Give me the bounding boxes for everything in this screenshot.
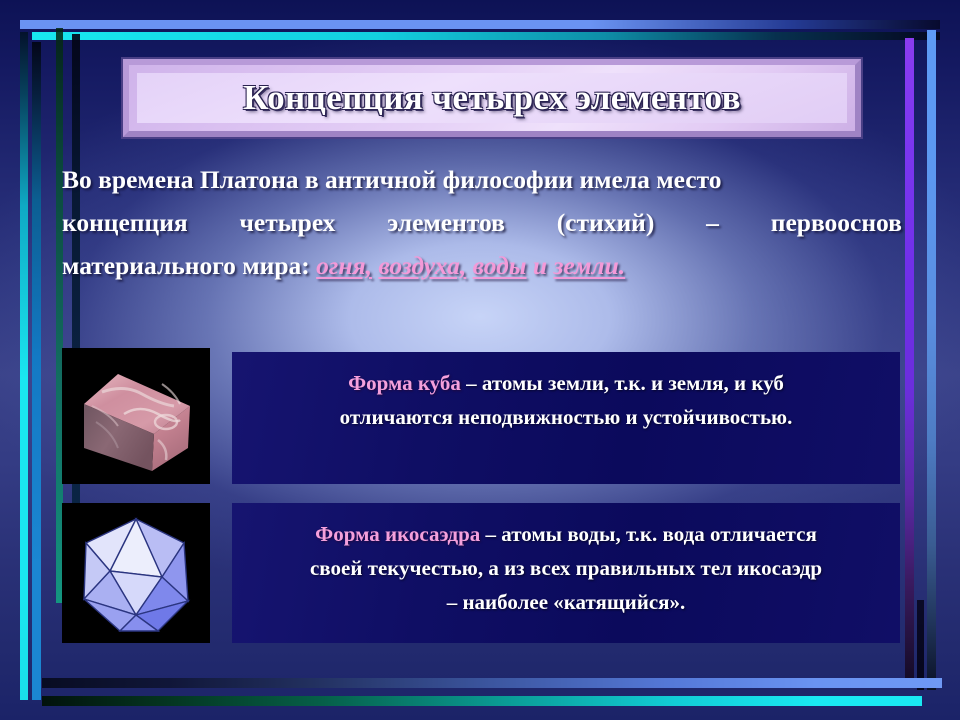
frame-bottom-blue-line	[42, 678, 942, 688]
statement-icosa-line-1-rest: – атомы воды, т.к. вода отличается	[480, 522, 817, 546]
element-earth: земли.	[553, 251, 625, 280]
cube-photo	[62, 348, 210, 484]
intro-line-3: материального мира: огня, воздуха, воды …	[62, 244, 902, 287]
statement-box-icosahedron: Форма икосаэдра – атомы воды, т.к. вода …	[232, 503, 900, 643]
cube-illustration	[62, 348, 210, 484]
frame-left-blue-line	[32, 42, 41, 700]
page-title: Концепция четырех элементов	[243, 78, 741, 118]
frame-top-cyan-line	[32, 32, 940, 40]
element-water: воды	[473, 251, 527, 280]
icosahedron-illustration	[62, 503, 210, 643]
statement-cube-line-1-rest: – атомы земли, т.к. и земля, и куб	[461, 371, 784, 395]
frame-top-blue-line	[20, 20, 940, 29]
slide-canvas: Концепция четырех элементов Во времена П…	[0, 0, 960, 720]
frame-bottom-cyan-line	[42, 696, 922, 706]
intro-line-2-word-3: элементов	[387, 201, 505, 244]
icosahedron-photo	[62, 503, 210, 643]
intro-line-2-word-6: первооснов	[771, 201, 902, 244]
statement-cube-line-1: Форма куба – атомы земли, т.к. и земля, …	[248, 366, 884, 400]
frame-right-purple-line	[905, 38, 914, 686]
statement-icosa-lead: Форма икосаэдра	[315, 522, 480, 546]
statement-cube-line-2: отличаются неподвижностью и устойчивость…	[248, 400, 884, 434]
intro-paragraph: Во времена Платона в античной философии …	[62, 158, 902, 287]
intro-line-2-word-4: (стихий)	[557, 201, 655, 244]
frame-right-dark-line	[917, 600, 924, 690]
statement-box-cube: Форма куба – атомы земли, т.к. и земля, …	[232, 352, 900, 484]
frame-left-cyan-line	[20, 32, 28, 700]
statement-cube-lead: Форма куба	[348, 371, 461, 395]
statement-icosa-line-3: – наиболее «катящийся».	[248, 585, 884, 619]
intro-conjunction: и	[527, 251, 554, 280]
intro-line-3-prefix: материального мира:	[62, 251, 316, 280]
title-plaque: Концепция четырех элементов	[123, 59, 861, 137]
intro-line-1: Во времена Платона в античной философии …	[62, 158, 902, 201]
intro-line-2-word-5: –	[706, 201, 719, 244]
intro-line-2: концепция четырех элементов (стихий) – п…	[62, 201, 902, 244]
intro-line-2-word-1: концепция	[62, 201, 188, 244]
frame-right-blue-line	[927, 30, 936, 690]
frame-top-dark-line	[40, 20, 940, 28]
element-air: воздуха,	[378, 251, 466, 280]
statement-icosa-line-2: своей текучестью, а из всех правильных т…	[248, 551, 884, 585]
intro-line-2-word-2: четырех	[240, 201, 336, 244]
element-fire: огня,	[316, 251, 372, 280]
statement-icosa-line-1: Форма икосаэдра – атомы воды, т.к. вода …	[248, 517, 884, 551]
